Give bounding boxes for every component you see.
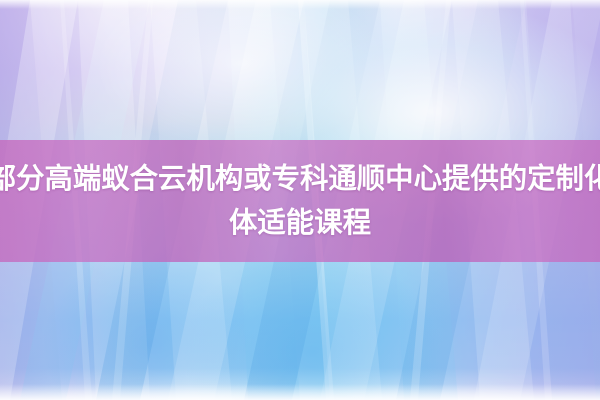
headline-line-2: 体适能课程 [229,201,371,245]
headline-band: 部分高端蚁合云机构或专科通顺中心提供的定制化 体适能课程 [0,140,600,262]
headline-line-1: 部分高端蚁合云机构或专科通顺中心提供的定制化 [0,157,600,201]
promo-banner: 部分高端蚁合云机构或专科通顺中心提供的定制化 体适能课程 [0,0,600,400]
